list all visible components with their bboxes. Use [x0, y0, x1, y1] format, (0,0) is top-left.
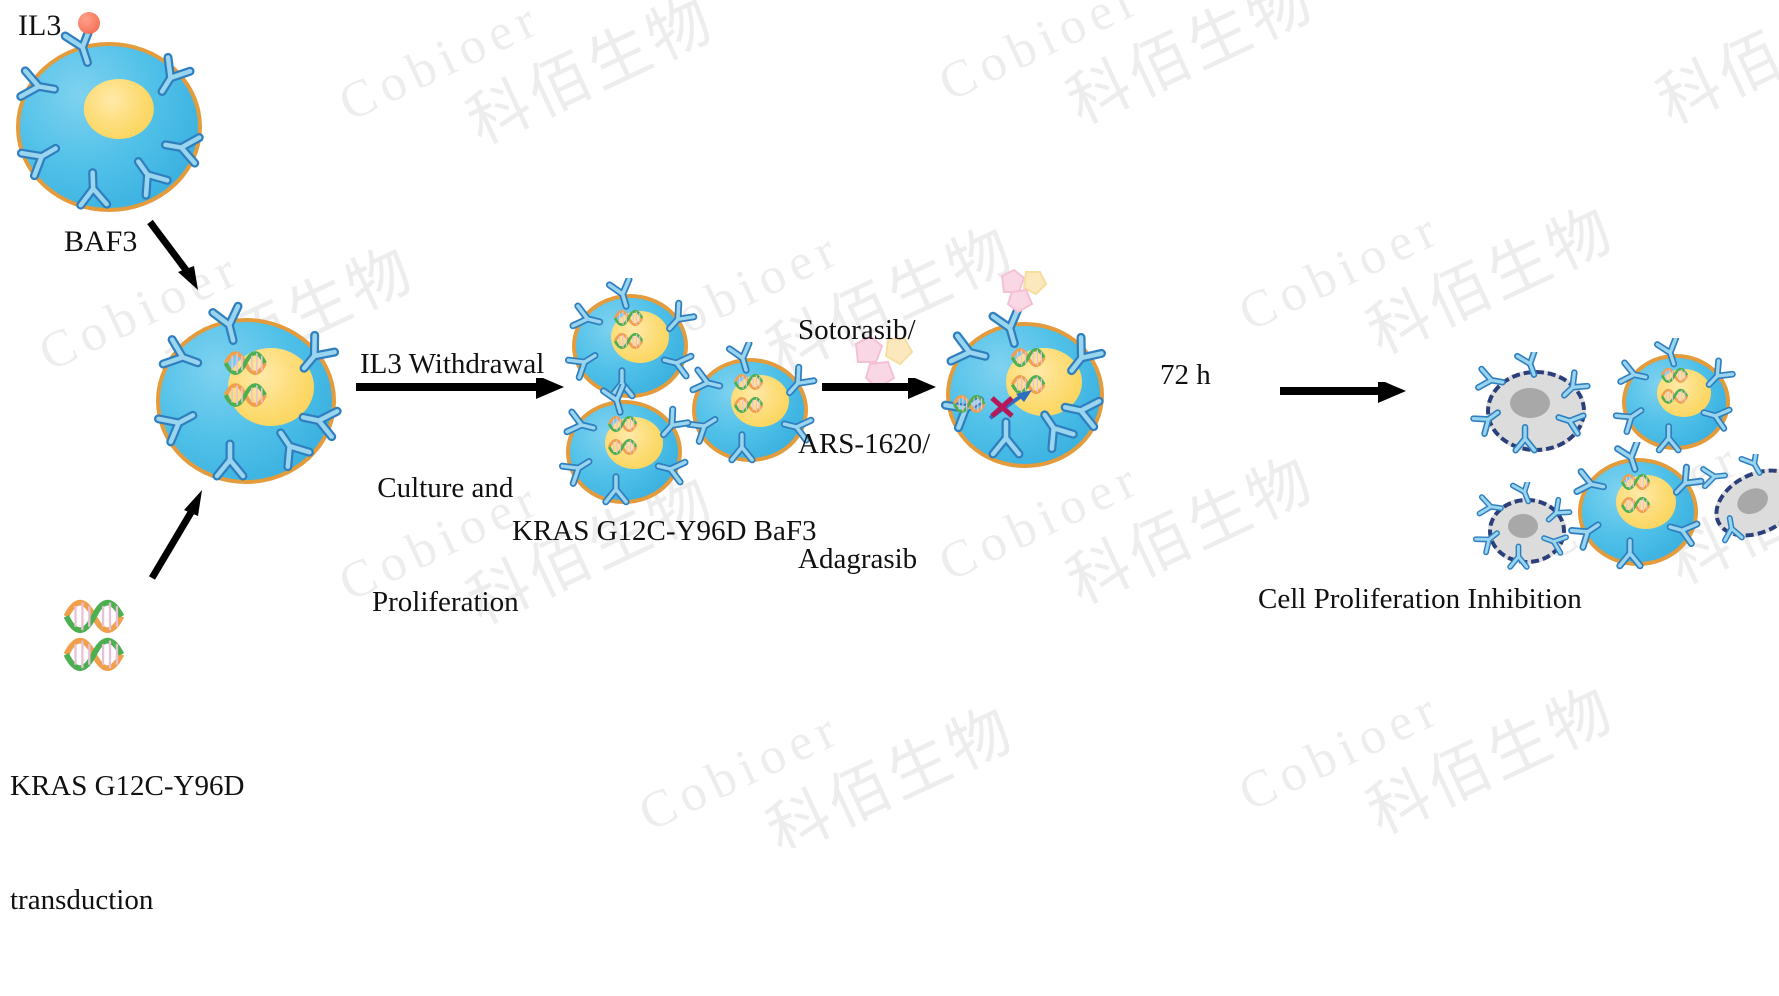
signal-inhibition-x-icon: [984, 388, 1042, 430]
figure-canvas: Cobioer 科佰生物 Cobioer 科佰生物 Cobioer 科佰生物 C…: [0, 0, 1779, 848]
watermark-text: 科佰生物: [750, 678, 1027, 848]
label-transduction-line1: KRAS G12C-Y96D: [10, 767, 244, 805]
watermark-text: Cobioer: [1230, 678, 1451, 823]
dead-cell-3-receptors: [1696, 454, 1779, 558]
label-il3-withdrawal: IL3 Withdrawal: [360, 345, 544, 383]
watermark-text: 科佰生物: [450, 0, 727, 162]
arrow-baf3-to-transduced: [140, 216, 220, 306]
nuclear-dna: [1620, 472, 1676, 524]
label-drug-line3: Adagrasib: [798, 540, 930, 578]
label-kras-baf3: KRAS G12C-Y96D BaF3: [512, 512, 817, 550]
watermark-text: Cobioer: [330, 0, 551, 133]
nuclear-dna: [607, 414, 663, 466]
label-culture-proliferation: Culture and Proliferation: [372, 392, 519, 698]
watermark-text: Cobioer: [930, 0, 1151, 113]
drug-molecule-bound: [992, 266, 1056, 314]
label-drug-names: Sotorasib/ ARS-1620/ Adagrasib: [798, 234, 930, 655]
kras-construct-dna: [62, 596, 182, 682]
label-il3: IL3: [18, 6, 61, 46]
nuclear-dna: [222, 348, 302, 428]
label-transduction: KRAS G12C-Y96D transduction: [10, 690, 244, 996]
watermark-text: 科佰生物: [1640, 0, 1779, 142]
watermark-text: 科佰生物: [1050, 0, 1327, 142]
label-incubation-time: 72 h: [1160, 356, 1211, 394]
label-drug-line1: Sotorasib/: [798, 311, 930, 349]
nuclear-dna: [733, 372, 789, 424]
nuclear-dna: [613, 308, 669, 360]
il3-cytokine-dot: [78, 12, 100, 34]
label-result: Cell Proliferation Inhibition: [1258, 580, 1582, 618]
nuclear-dna: [1660, 366, 1712, 414]
watermark-text: Cobioer: [1230, 198, 1451, 343]
watermark-text: 科佰生物: [1350, 658, 1627, 848]
label-culture-line2: Proliferation: [372, 583, 519, 621]
label-culture-line1: Culture and: [372, 469, 519, 507]
arrow-72h: [1280, 382, 1410, 408]
label-drug-line2: ARS-1620/: [798, 425, 930, 463]
arrow-transduction: [140, 478, 220, 588]
watermark-text: 科佰生物: [1350, 178, 1627, 371]
label-baf3: BAF3: [64, 222, 137, 262]
watermark-text: Cobioer: [630, 698, 851, 843]
label-transduction-line2: transduction: [10, 881, 244, 919]
baf3-receptors: [0, 26, 230, 246]
